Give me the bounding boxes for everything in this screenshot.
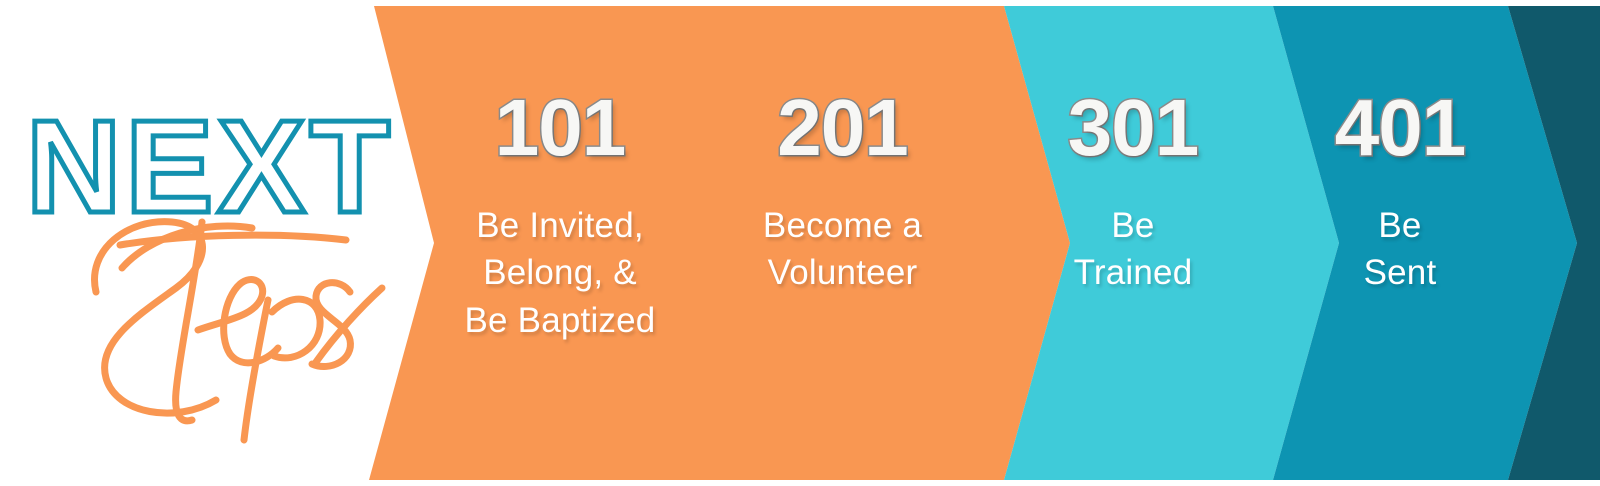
next-steps-banner: NEXT Steps	[0, 0, 1600, 486]
chevron-shape-1[interactable]	[369, 6, 1070, 480]
chevron-sequence	[0, 0, 1600, 486]
